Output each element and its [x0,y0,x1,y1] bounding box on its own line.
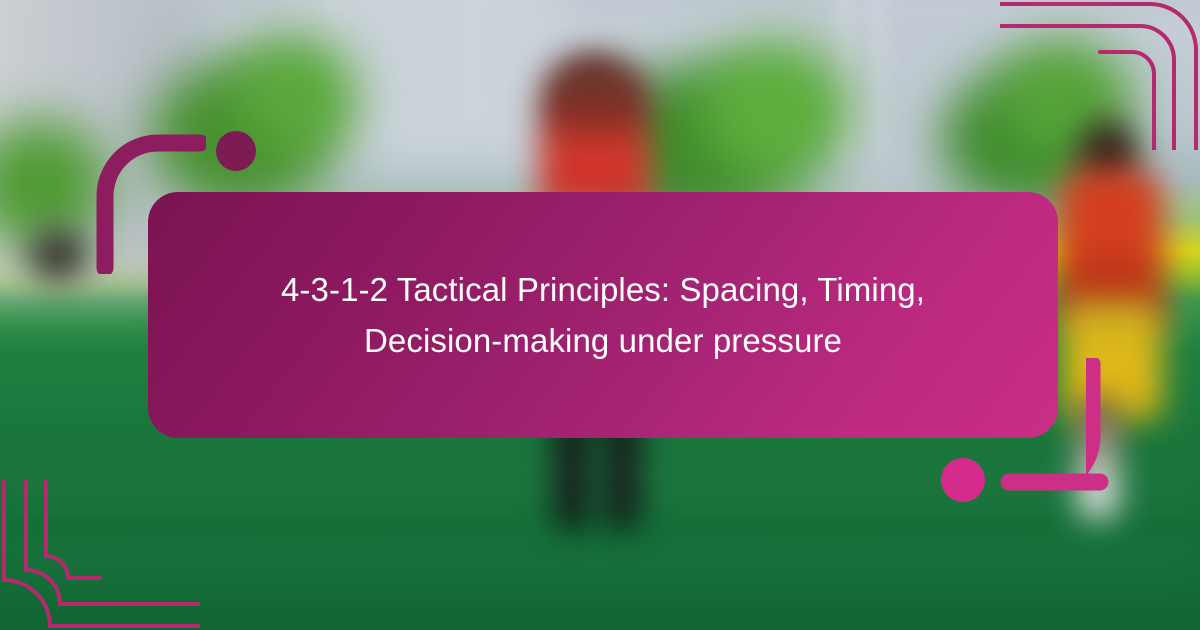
title-card: 4-3-1-2 Tactical Principles: Spacing, Ti… [148,192,1058,438]
background-player-center-body [540,60,650,210]
background-pole-2 [468,0,480,130]
background-turf-stripe-2 [0,556,1200,578]
accent-dot-bottom-right [941,458,985,502]
background-foliage-2 [236,36,356,156]
background-pole-4 [872,0,884,150]
background-ball [28,228,88,282]
social-card-canvas: 4-3-1-2 Tactical Principles: Spacing, Ti… [0,0,1200,630]
page-title: 4-3-1-2 Tactical Principles: Spacing, Ti… [281,264,925,366]
background-foliage-4 [700,40,850,180]
accent-bracket-bottom-right-tail [1000,470,1110,494]
accent-dot-top-left [216,131,256,171]
